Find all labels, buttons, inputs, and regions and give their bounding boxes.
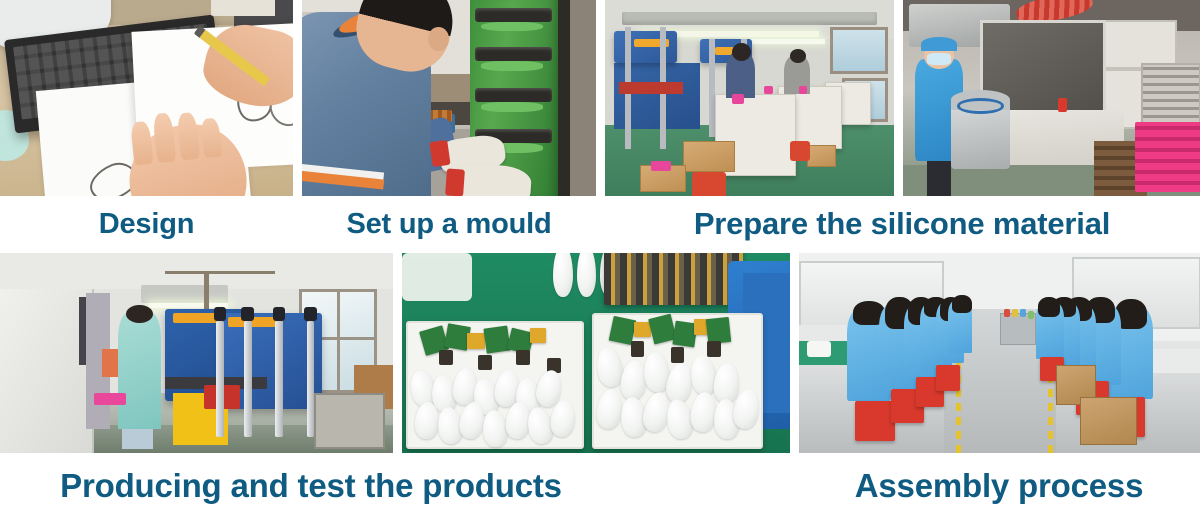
panel-gap xyxy=(894,0,903,196)
photo-silicone-workshop[interactable] xyxy=(605,0,894,196)
photo-design[interactable] xyxy=(0,0,293,196)
photo-set-up-a-mould[interactable] xyxy=(302,0,596,196)
caption-design: Design xyxy=(0,210,293,239)
panel-gap xyxy=(293,0,302,196)
panel-gap xyxy=(596,0,605,196)
caption-prepare-the-silicone-material: Prepare the silicone material xyxy=(604,208,1200,239)
caption-row-1: Design Set up a mould Prepare the silico… xyxy=(0,196,1200,253)
caption-set-up-a-mould: Set up a mould xyxy=(302,210,596,239)
caption-assembly-process: Assembly process xyxy=(798,469,1200,502)
caption-producing-and-test-the-products: Producing and test the products xyxy=(0,469,622,502)
photo-silicone-mixer[interactable] xyxy=(903,0,1200,196)
photo-producing[interactable] xyxy=(0,253,393,453)
caption-row-2: Producing and test the products Assembly… xyxy=(0,453,1200,524)
photo-testing-products[interactable] xyxy=(402,253,790,453)
panel-gap xyxy=(393,253,402,453)
image-row-2 xyxy=(0,253,1200,453)
panel-gap xyxy=(790,253,799,453)
process-gallery: Design Set up a mould Prepare the silico… xyxy=(0,0,1200,524)
image-row-1 xyxy=(0,0,1200,196)
photo-assembly-line[interactable] xyxy=(799,253,1200,453)
